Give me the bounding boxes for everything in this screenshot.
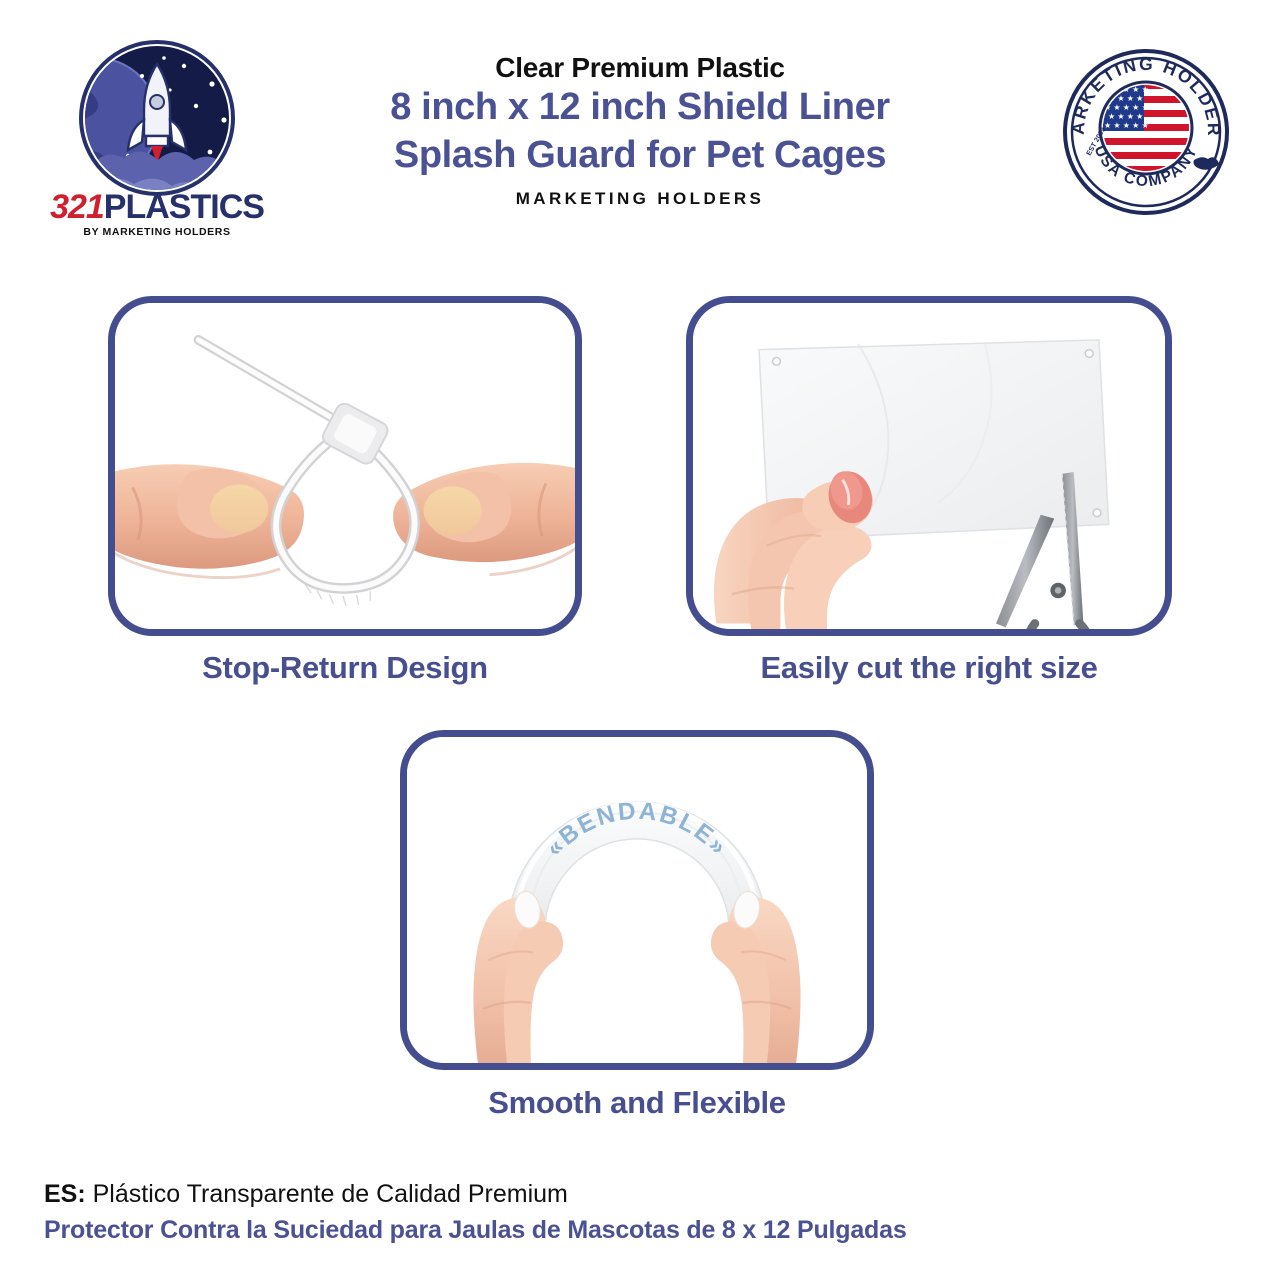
logo-wordmark-word: PLASTICS <box>104 188 264 226</box>
brand-name-text: MARKETING HOLDERS <box>290 189 990 209</box>
title-block: Clear Premium Plastic 8 inch x 12 inch S… <box>290 52 990 209</box>
brand-logo-321plastics: 321PLASTICS BY MARKETING HOLDERS <box>42 40 272 230</box>
feature-caption-1: Stop-Return Design <box>108 650 582 686</box>
feature-caption-3: Smooth and Flexible <box>400 1085 874 1121</box>
usa-company-seal-icon: ★ ★ ★ ★ ★ ★ ★ ★ ★ ★ ★ ★ ★ ★ ★ ★ ★ ★ ★ ★ … <box>1062 48 1230 216</box>
footer-spanish-line-2: Protector Contra la Suciedad para Jaulas… <box>44 1212 1144 1248</box>
usa-map-icon <box>1194 157 1219 170</box>
svg-text:★ ★ ★ ★ ★: ★ ★ ★ ★ ★ <box>1104 103 1149 112</box>
zip-tie-in-fingers-photo <box>115 303 575 633</box>
hands-bending-clear-sheet-photo: «BENDABLE» <box>407 737 867 1067</box>
page-title-line-1: 8 inch x 12 inch Shield Liner <box>290 84 990 132</box>
footer: ES: Plástico Transparente de Calidad Pre… <box>44 1176 1144 1249</box>
hand-holding-clear-sheet-with-scissors-photo <box>693 303 1165 633</box>
svg-text:★ ★ ★ ★ ★: ★ ★ ★ ★ ★ <box>1104 121 1149 130</box>
logo-tagline: BY MARKETING HOLDERS <box>42 226 272 238</box>
feature-card-easily-cut <box>686 296 1172 636</box>
footer-spanish-subtitle: Plástico Transparente de Calidad Premium <box>86 1180 568 1208</box>
logo-wordmark-number: 321 <box>50 188 104 226</box>
feature-caption-2: Easily cut the right size <box>686 650 1172 686</box>
footer-spanish-line-1: ES: Plástico Transparente de Calidad Pre… <box>44 1176 1144 1212</box>
footer-language-label: ES: <box>44 1180 86 1208</box>
feature-card-smooth-flexible: «BENDABLE» <box>400 730 874 1070</box>
feature-card-stop-return <box>108 296 582 636</box>
page-title-line-2: Splash Guard for Pet Cages <box>290 132 990 180</box>
kicker-text: Clear Premium Plastic <box>290 52 990 84</box>
header: 321PLASTICS BY MARKETING HOLDERS Clear P… <box>0 0 1280 250</box>
rocket-globe-icon <box>64 40 250 200</box>
logo-wordmark: 321PLASTICS <box>42 190 272 224</box>
svg-text:★ ★ ★ ★: ★ ★ ★ ★ <box>1108 112 1143 121</box>
